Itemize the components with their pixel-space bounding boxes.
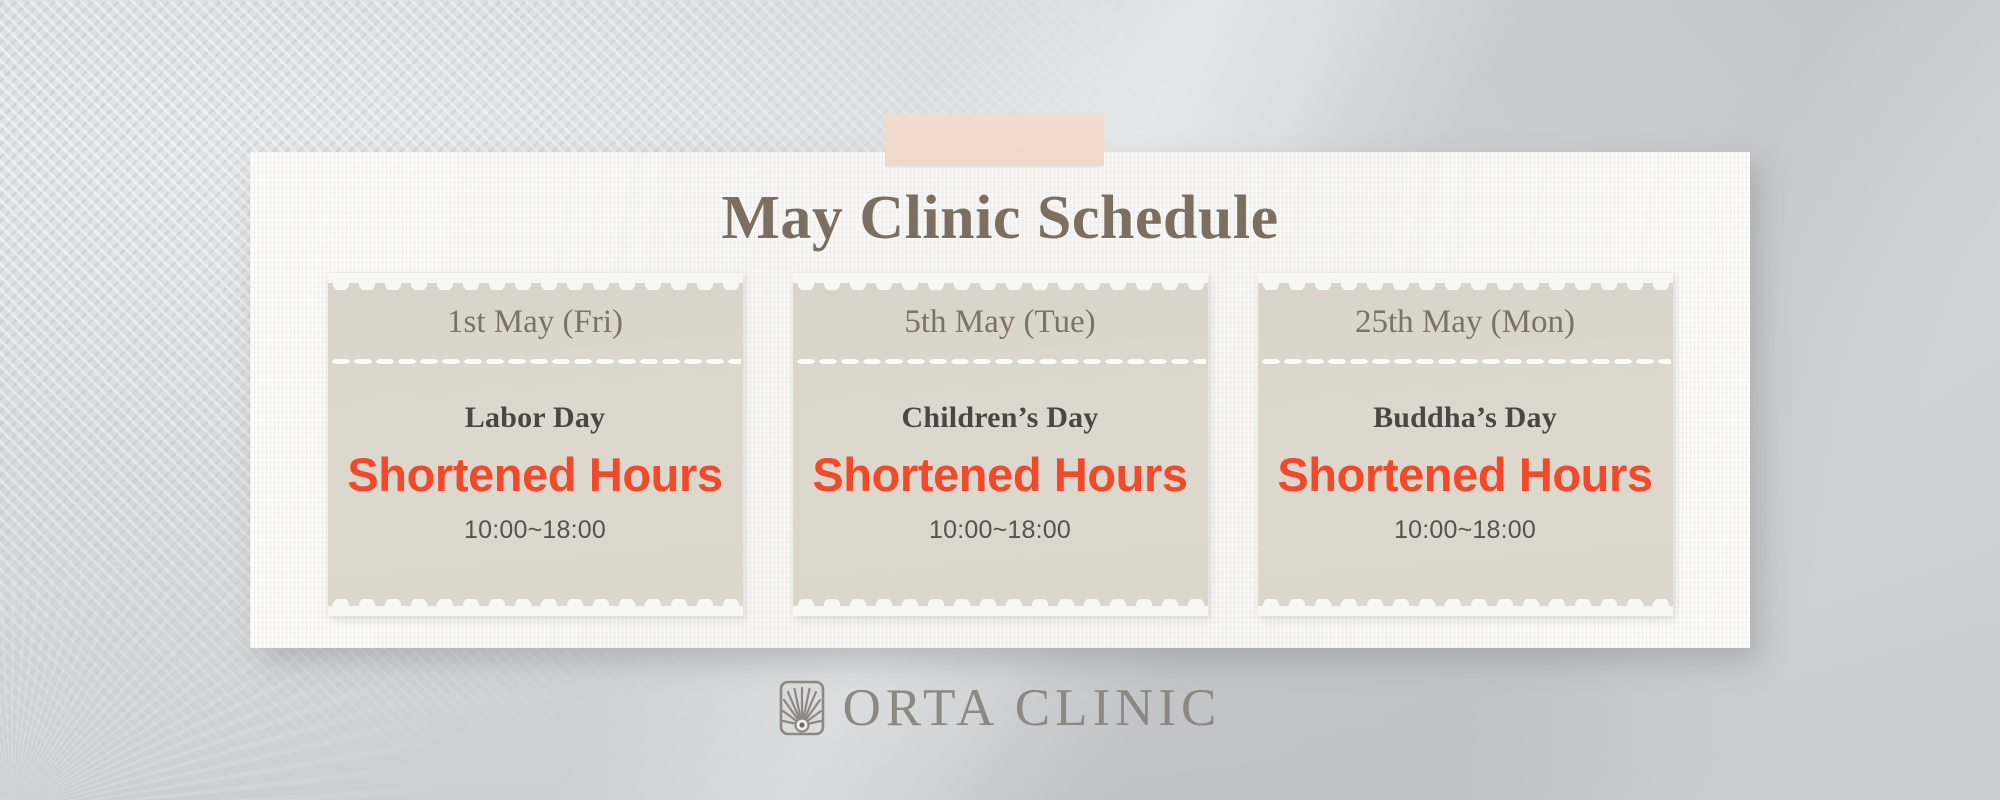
ticket-perforation-line <box>330 359 741 363</box>
ticket-status: Shortened Hours <box>328 447 743 502</box>
ticket-hours: 10:00~18:00 <box>328 516 743 545</box>
ticket-perforation-line <box>1260 359 1671 363</box>
brand-logo: ORTA CLINIC <box>0 678 2000 738</box>
ticket-status: Shortened Hours <box>1258 447 1673 502</box>
ticket-holiday-name: Labor Day <box>328 401 743 435</box>
ticket-holiday-name: Buddha’s Day <box>1258 401 1673 435</box>
schedule-ticket[interactable]: 1st May (Fri) Labor Day Shortened Hours … <box>328 274 743 615</box>
schedule-ticket[interactable]: 5th May (Tue) Children’s Day Shortened H… <box>793 274 1208 615</box>
washi-tape <box>888 113 1101 166</box>
page-title: May Clinic Schedule <box>250 183 1750 254</box>
ticket-hours: 10:00~18:00 <box>793 516 1208 545</box>
sunburst-frame-icon <box>779 680 825 736</box>
schedule-card-list: 1st May (Fri) Labor Day Shortened Hours … <box>250 274 1750 622</box>
ticket-date: 1st May (Fri) <box>328 274 743 359</box>
schedule-ticket[interactable]: 25th May (Mon) Buddha’s Day Shortened Ho… <box>1258 274 1673 615</box>
ticket-date: 25th May (Mon) <box>1258 274 1673 359</box>
ticket-holiday-name: Children’s Day <box>793 401 1208 435</box>
ticket-hours: 10:00~18:00 <box>1258 516 1673 545</box>
ticket-perforation-line <box>795 359 1206 363</box>
brand-name: ORTA CLINIC <box>843 678 1222 738</box>
ticket-status: Shortened Hours <box>793 447 1208 502</box>
ticket-date: 5th May (Tue) <box>793 274 1208 359</box>
